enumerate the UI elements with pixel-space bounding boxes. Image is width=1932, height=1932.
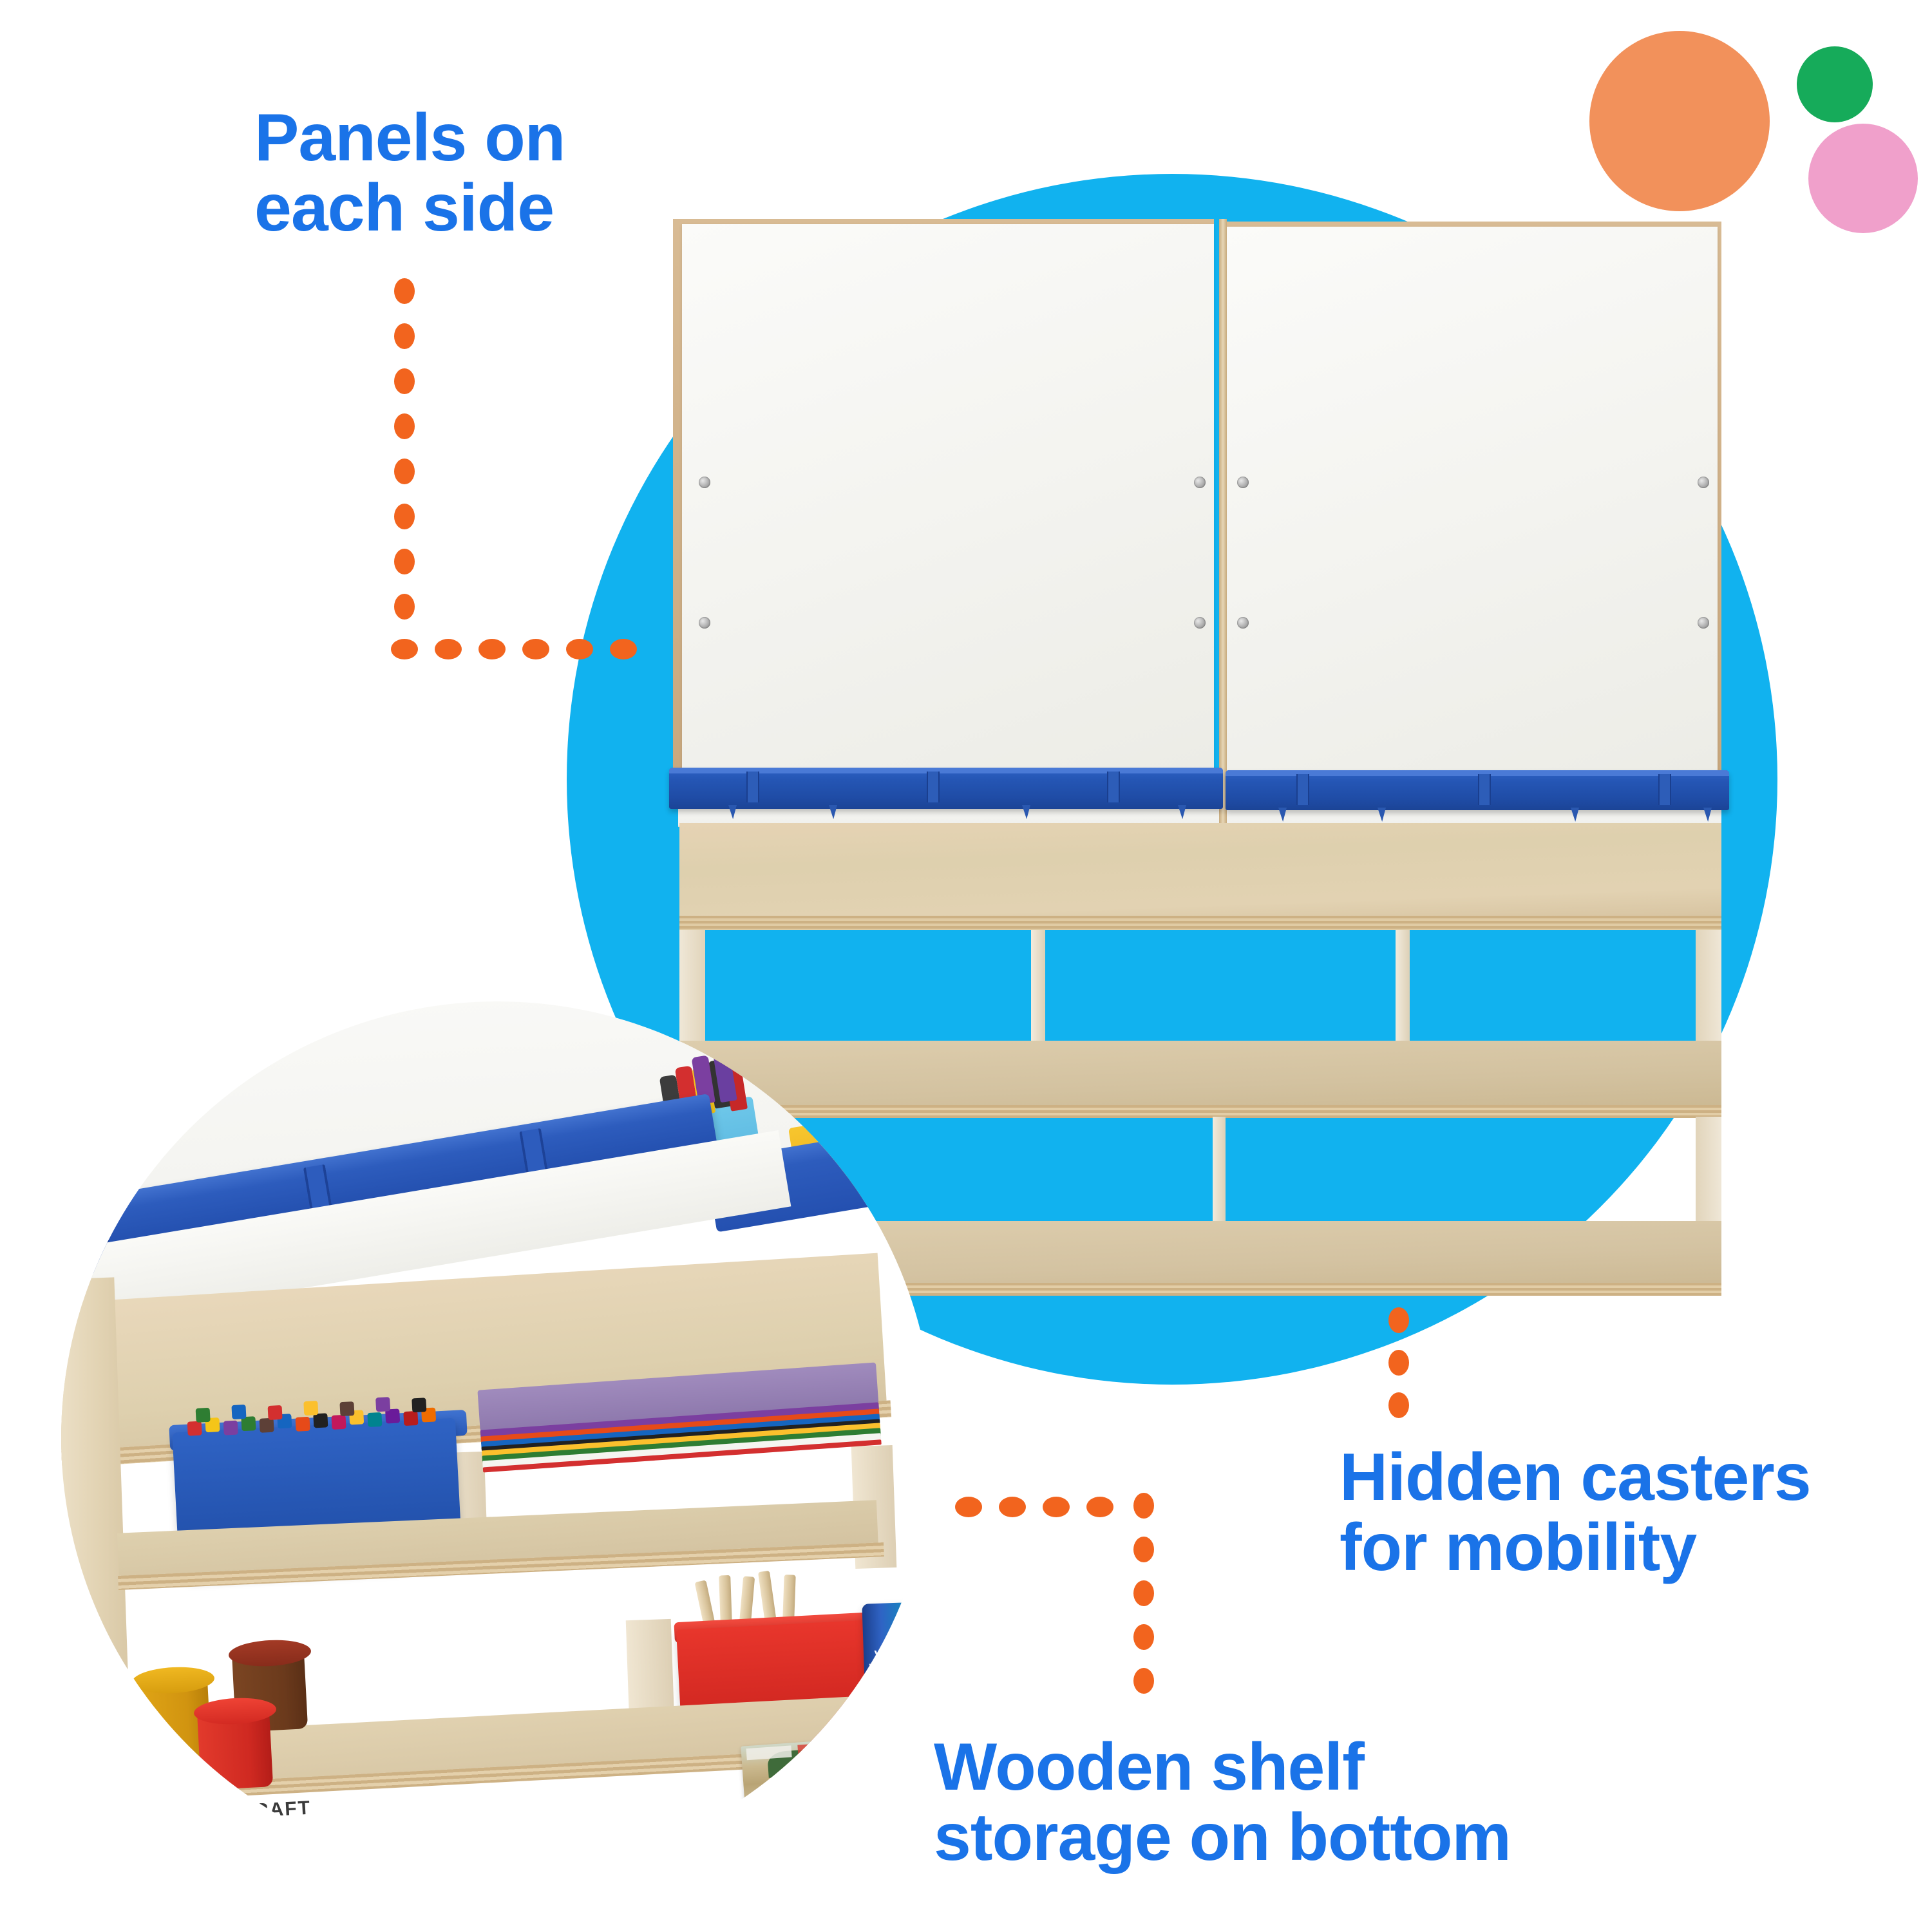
- panel-screw-icon: [1698, 617, 1709, 629]
- brand-stamp: RAFT: [254, 1797, 312, 1823]
- tempera-brand: Sax: [866, 1637, 922, 1649]
- inset-closeup-photo: Sax VERSA TEMPERA HEAVY-BODIED TEMPERA: [61, 1001, 934, 1874]
- panel-screw-icon: [1237, 477, 1249, 488]
- callout-panels-line2: each side: [254, 173, 654, 243]
- panel-screw-icon: [1194, 477, 1206, 488]
- callout-wooden-shelf-storage: Wooden shelf storage on bottom: [934, 1732, 1642, 1873]
- panel-screw-icon: [1237, 617, 1249, 629]
- right-paint-trough: [1226, 770, 1729, 810]
- pink-circle-decoration: [1808, 124, 1918, 233]
- orange-circle-decoration: [1589, 31, 1770, 211]
- infographic-canvas: Sax VERSA TEMPERA HEAVY-BODIED TEMPERA: [0, 0, 1932, 1932]
- panel-screw-icon: [699, 477, 710, 488]
- left-whiteboard-panel: [682, 224, 1214, 775]
- callout-hidden-casters: Hidden casters for mobility: [1340, 1443, 1906, 1583]
- panel-centre-seam: [1219, 219, 1227, 929]
- callout-shelf-line1: Wooden shelf: [934, 1732, 1642, 1803]
- panel-screw-icon: [1194, 617, 1206, 629]
- right-whiteboard-panel: [1224, 227, 1718, 775]
- apron-ply-edge: [679, 916, 1721, 930]
- sketchbook-stack: [741, 1728, 934, 1843]
- panel-screw-icon: [699, 617, 710, 629]
- panel-screw-icon: [1698, 477, 1709, 488]
- callout-panels-on-each-side: Panels on each side: [254, 103, 654, 243]
- tempera-line4: TEMPERA: [867, 1681, 924, 1691]
- easel-front-apron: [679, 823, 1721, 921]
- callout-casters-line1: Hidden casters: [1340, 1443, 1906, 1513]
- callout-shelf-line2: storage on bottom: [934, 1803, 1642, 1873]
- tempera-line2: TEMPERA: [866, 1660, 923, 1674]
- left-paint-trough: [669, 768, 1223, 809]
- callout-casters-line2: for mobility: [1340, 1513, 1906, 1583]
- green-circle-decoration: [1797, 46, 1873, 122]
- callout-panels-line1: Panels on: [254, 103, 654, 173]
- tempera-label: Sax VERSA TEMPERA HEAVY-BODIED TEMPERA: [866, 1637, 924, 1701]
